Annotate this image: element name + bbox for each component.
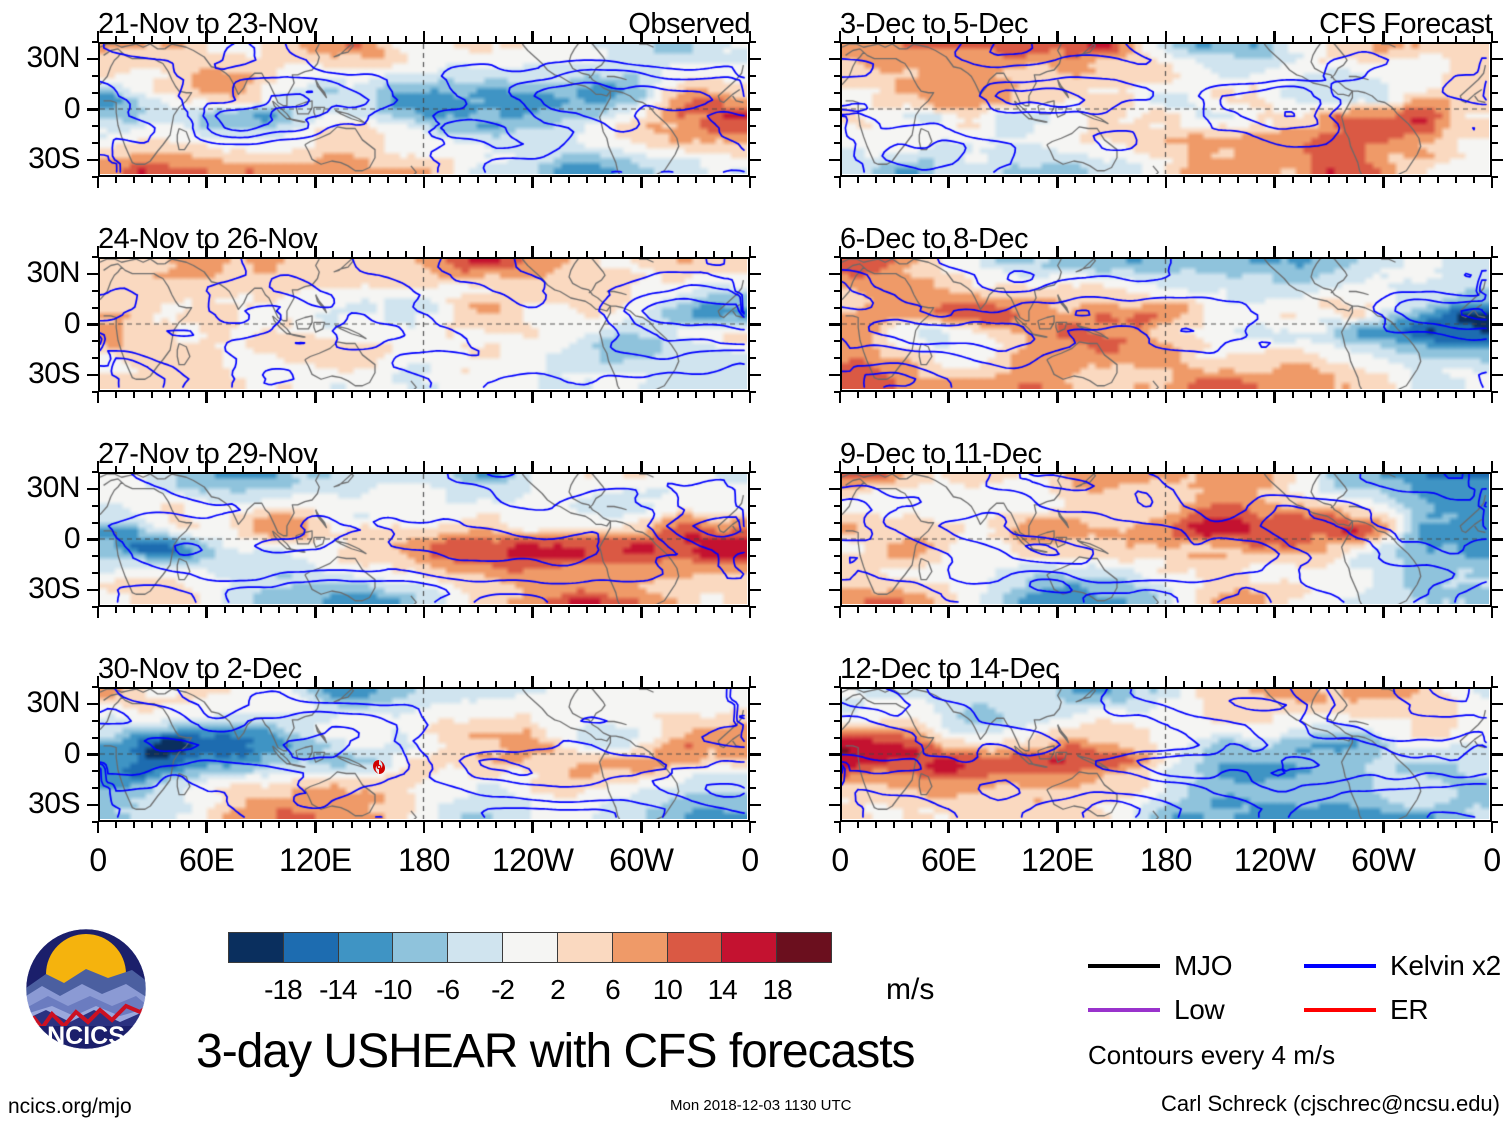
x-axis-tick	[911, 466, 913, 472]
x-axis-tick	[713, 392, 715, 398]
x-axis-tick	[1002, 177, 1004, 183]
x-axis-tick	[1147, 822, 1149, 828]
x-axis-tick	[188, 36, 190, 42]
x-axis-tick	[640, 177, 643, 188]
x-axis-tick	[1382, 246, 1385, 257]
x-axis-tick	[1056, 822, 1059, 833]
x-axis-tick	[97, 607, 100, 618]
x-axis-tick	[1455, 251, 1457, 257]
y-axis-tick	[834, 256, 840, 258]
x-axis-tick	[550, 681, 552, 687]
x-axis-tick	[477, 607, 479, 613]
x-axis-tick	[1382, 392, 1385, 403]
x-axis-tick	[695, 681, 697, 687]
x-axis-tick	[984, 177, 986, 183]
y-axis-tick	[750, 256, 756, 258]
y-axis-tick	[92, 471, 98, 473]
x-axis-tick	[115, 607, 117, 613]
figure-title: 3-day USHEAR with CFS forecasts	[196, 1028, 915, 1076]
x-axis-tick	[1002, 392, 1004, 398]
x-axis-tick	[1455, 36, 1457, 42]
x-axis-tick	[1400, 607, 1402, 613]
x-axis-tick	[677, 466, 679, 472]
x-axis-tick	[731, 392, 733, 398]
x-axis-tick	[658, 36, 660, 42]
x-axis-tick	[984, 822, 986, 828]
x-axis-tick	[351, 822, 353, 828]
x-axis-tick	[857, 607, 859, 613]
y-axis-label: 30S	[28, 144, 80, 174]
x-axis-tick	[658, 392, 660, 398]
y-axis-tick	[834, 505, 840, 507]
x-axis-tick	[1310, 36, 1312, 42]
x-axis-tick	[658, 822, 660, 828]
x-axis-tick	[857, 177, 859, 183]
x-axis-tick	[1419, 822, 1421, 828]
y-axis-tick	[834, 340, 840, 342]
x-axis-tick	[658, 466, 660, 472]
x-axis-tick	[97, 822, 100, 833]
y-axis-tick	[750, 142, 756, 144]
y-axis-tick	[92, 391, 98, 393]
y-axis-tick	[92, 290, 98, 292]
x-axis-tick	[1111, 607, 1113, 613]
x-axis-tick	[1219, 36, 1221, 42]
x-axis-tick	[1400, 681, 1402, 687]
x-axis-tick	[1419, 392, 1421, 398]
x-axis-tick	[459, 177, 461, 183]
colorbar-swatch	[503, 933, 558, 962]
x-axis-tick	[911, 607, 913, 613]
x-axis-tick	[1419, 607, 1421, 613]
x-axis-tick	[1328, 177, 1330, 183]
x-axis-tick	[260, 681, 262, 687]
x-axis-tick	[875, 681, 877, 687]
y-axis-tick	[834, 572, 840, 574]
ushear-shaded-field	[100, 44, 747, 174]
x-axis-tick	[1364, 466, 1366, 472]
x-axis-tick	[893, 681, 895, 687]
x-axis-tick	[1364, 36, 1366, 42]
y-axis-tick	[1492, 307, 1498, 309]
x-axis-label: 60E	[889, 844, 1009, 876]
y-axis-tick	[92, 505, 98, 507]
x-axis-tick	[314, 392, 317, 403]
x-axis-tick	[351, 251, 353, 257]
x-axis-tick	[260, 607, 262, 613]
x-axis-label: 0	[38, 844, 158, 876]
y-axis-tick	[1492, 522, 1498, 524]
x-axis-tick	[677, 822, 679, 828]
y-axis-tick	[750, 75, 756, 77]
x-axis-tick	[984, 392, 986, 398]
x-axis-tick	[278, 36, 280, 42]
y-axis-tick	[87, 108, 98, 111]
x-axis-tick	[1020, 681, 1022, 687]
y-axis-tick	[1492, 686, 1498, 688]
y-axis-tick	[92, 737, 98, 739]
y-axis-tick	[92, 720, 98, 722]
x-axis-tick	[459, 251, 461, 257]
y-axis-tick	[1492, 374, 1503, 377]
x-axis-tick	[875, 466, 877, 472]
x-axis-tick	[242, 607, 244, 613]
legend-entry-er: ER	[1304, 996, 1428, 1024]
y-axis-tick	[92, 572, 98, 574]
x-axis-tick	[1364, 607, 1366, 613]
x-axis-tick	[1400, 36, 1402, 42]
x-axis-tick	[1491, 177, 1494, 188]
x-axis-tick	[133, 392, 135, 398]
x-axis-tick	[1129, 392, 1131, 398]
x-axis-tick	[1292, 177, 1294, 183]
ushear-shaded-field	[842, 689, 1489, 819]
x-axis-tick	[1400, 822, 1402, 828]
x-axis-tick	[296, 822, 298, 828]
x-axis-tick	[947, 31, 950, 42]
y-axis-tick	[834, 391, 840, 393]
y-axis-tick	[829, 273, 840, 276]
x-axis-tick	[351, 681, 353, 687]
x-axis-label: 120W	[1215, 844, 1335, 876]
x-axis-tick	[1129, 681, 1131, 687]
x-axis-tick	[984, 251, 986, 257]
x-axis-tick	[1273, 177, 1276, 188]
x-axis-tick	[1382, 31, 1385, 42]
x-axis-tick	[188, 822, 190, 828]
x-axis-tick	[1310, 681, 1312, 687]
x-axis-tick	[351, 392, 353, 398]
x-axis-tick	[351, 36, 353, 42]
x-axis-tick	[1219, 822, 1221, 828]
x-axis-tick	[947, 392, 950, 403]
x-axis-tick	[568, 681, 570, 687]
y-axis-tick	[92, 555, 98, 557]
x-axis-tick	[296, 392, 298, 398]
x-axis-tick	[296, 607, 298, 613]
y-axis-tick	[1492, 737, 1498, 739]
x-axis-tick	[278, 392, 280, 398]
y-axis-label: 30S	[28, 359, 80, 389]
x-axis-tick	[224, 607, 226, 613]
x-axis-tick	[188, 466, 190, 472]
x-axis-tick	[1237, 251, 1239, 257]
y-axis-tick	[92, 176, 98, 178]
x-axis-tick	[205, 822, 208, 833]
x-axis-tick	[622, 251, 624, 257]
x-axis-tick	[1292, 466, 1294, 472]
x-axis-tick	[531, 822, 534, 833]
y-axis-tick	[750, 159, 761, 162]
x-axis-tick	[911, 681, 913, 687]
x-axis-tick	[1310, 177, 1312, 183]
panel-title: 3-Dec to 5-Dec	[840, 10, 1028, 39]
x-axis-tick	[586, 36, 588, 42]
x-axis-tick	[1020, 177, 1022, 183]
x-axis-tick	[568, 607, 570, 613]
x-axis-tick	[1473, 466, 1475, 472]
x-axis-tick	[188, 681, 190, 687]
x-axis-tick	[1002, 36, 1004, 42]
legend-label: Kelvin x2	[1390, 952, 1501, 980]
map-plot-area	[840, 472, 1492, 607]
x-axis-tick	[550, 251, 552, 257]
x-axis-tick	[857, 822, 859, 828]
y-axis-tick	[834, 357, 840, 359]
x-axis-tick	[1093, 36, 1095, 42]
x-axis-tick	[947, 607, 950, 618]
x-axis-tick	[351, 177, 353, 183]
x-axis-tick	[1346, 251, 1348, 257]
colorbar-units-label: m/s	[886, 975, 934, 1005]
x-axis-tick	[966, 607, 968, 613]
x-axis-tick	[1183, 392, 1185, 398]
x-axis-tick	[1455, 681, 1457, 687]
x-axis-tick	[1074, 822, 1076, 828]
tropical-cyclone-symbol	[371, 757, 387, 777]
x-axis-tick	[296, 466, 298, 472]
x-axis-tick	[1129, 607, 1131, 613]
y-axis-tick	[92, 686, 98, 688]
x-axis-tick	[1056, 177, 1059, 188]
x-axis-tick	[911, 177, 913, 183]
y-axis-tick	[750, 555, 756, 557]
y-axis-tick	[92, 125, 98, 127]
x-axis-tick	[242, 392, 244, 398]
y-axis-tick	[92, 41, 98, 43]
y-axis-tick	[750, 374, 761, 377]
x-axis-tick	[1056, 31, 1059, 42]
x-axis-tick	[495, 36, 497, 42]
y-axis-tick	[1492, 505, 1498, 507]
x-axis-tick	[695, 36, 697, 42]
x-axis-tick	[1038, 392, 1040, 398]
colorbar-swatch	[613, 933, 668, 962]
x-axis-tick	[586, 392, 588, 398]
x-axis-tick	[658, 177, 660, 183]
x-axis-tick	[1111, 392, 1113, 398]
x-axis-tick	[1237, 822, 1239, 828]
panel-fcst-3: 9-Dec to 11-Dec	[840, 440, 1492, 607]
y-axis-tick	[829, 538, 840, 541]
x-axis-tick	[1201, 177, 1203, 183]
x-axis-tick	[640, 392, 643, 403]
y-axis-tick	[1492, 753, 1503, 756]
x-axis-tick	[1310, 822, 1312, 828]
x-axis-tick	[1093, 251, 1095, 257]
y-axis-tick	[750, 307, 756, 309]
contour-interval-note: Contours every 4 m/s	[1088, 1042, 1335, 1068]
x-axis-tick	[369, 681, 371, 687]
x-axis-tick	[1364, 251, 1366, 257]
y-axis-tick	[1492, 488, 1503, 491]
y-axis-tick	[750, 340, 756, 342]
x-axis-tick	[260, 822, 262, 828]
x-axis-tick	[205, 461, 208, 472]
x-axis-tick	[242, 177, 244, 183]
x-axis-tick	[387, 681, 389, 687]
x-axis-tick	[495, 822, 497, 828]
x-axis-tick	[1111, 681, 1113, 687]
x-axis-tick	[260, 177, 262, 183]
x-axis-tick	[550, 392, 552, 398]
x-axis-tick	[1020, 607, 1022, 613]
x-axis-tick	[405, 392, 407, 398]
x-axis-tick	[749, 392, 752, 403]
colorbar-swatch	[393, 933, 448, 962]
x-axis-tick	[947, 461, 950, 472]
x-axis-tick	[857, 681, 859, 687]
x-axis-tick	[1419, 36, 1421, 42]
x-axis-tick	[369, 607, 371, 613]
y-axis-tick	[750, 538, 761, 541]
x-axis-tick	[296, 177, 298, 183]
x-axis-tick	[205, 607, 208, 618]
y-axis-tick	[750, 804, 761, 807]
x-axis-tick	[1455, 392, 1457, 398]
x-axis-tick	[314, 246, 317, 257]
x-axis-tick	[1020, 392, 1022, 398]
x-axis-tick	[332, 177, 334, 183]
y-axis-tick	[1492, 92, 1498, 94]
x-axis-tick	[514, 392, 516, 398]
x-axis-tick	[1346, 466, 1348, 472]
x-axis-tick	[1437, 392, 1439, 398]
x-axis-tick	[477, 466, 479, 472]
y-axis-tick	[750, 176, 756, 178]
x-axis-tick	[1183, 681, 1185, 687]
x-axis-tick	[1473, 607, 1475, 613]
x-axis-label: 60W	[1323, 844, 1443, 876]
legend-entry-mjo: MJO	[1088, 952, 1232, 980]
y-axis-label: 0	[64, 739, 80, 769]
panel-fcst-4: 12-Dec to 14-Dec060E120E180120W60W0	[840, 655, 1492, 822]
x-axis-tick	[1093, 177, 1095, 183]
x-axis-tick	[622, 392, 624, 398]
y-axis-label: 0	[64, 94, 80, 124]
x-axis-tick	[1273, 392, 1276, 403]
x-axis-tick	[115, 681, 117, 687]
x-axis-tick	[875, 607, 877, 613]
x-axis-tick	[151, 466, 153, 472]
x-axis-tick	[640, 246, 643, 257]
x-axis-tick	[1165, 676, 1168, 687]
x-axis-tick	[947, 177, 950, 188]
x-axis-tick	[713, 681, 715, 687]
x-axis-tick	[1074, 36, 1076, 42]
y-axis-tick	[834, 787, 840, 789]
x-axis-tick	[1437, 681, 1439, 687]
x-axis-tick	[514, 607, 516, 613]
x-axis-tick	[514, 466, 516, 472]
y-axis-tick	[87, 804, 98, 807]
x-axis-tick	[133, 607, 135, 613]
x-axis-tick	[1328, 607, 1330, 613]
x-axis-tick	[441, 251, 443, 257]
y-axis-tick	[1492, 471, 1498, 473]
x-axis-tick	[151, 177, 153, 183]
x-axis-tick	[930, 392, 932, 398]
x-axis-tick	[1437, 177, 1439, 183]
x-axis-tick	[423, 246, 426, 257]
x-axis-tick	[731, 681, 733, 687]
y-axis-tick	[750, 41, 756, 43]
legend-line-swatch	[1088, 1008, 1160, 1012]
x-axis-tick	[1473, 251, 1475, 257]
timestamp-label: Mon 2018-12-03 1130 UTC	[670, 1098, 852, 1113]
x-axis-tick	[930, 607, 932, 613]
x-axis-tick	[1038, 822, 1040, 828]
x-axis-tick	[151, 822, 153, 828]
x-axis-tick	[1093, 466, 1095, 472]
y-axis-tick	[829, 488, 840, 491]
x-axis-tick	[1419, 681, 1421, 687]
x-axis-tick	[151, 251, 153, 257]
x-axis-tick	[369, 36, 371, 42]
x-axis-tick	[1129, 822, 1131, 828]
x-axis-tick	[695, 177, 697, 183]
y-axis-tick	[834, 606, 840, 608]
x-axis-tick	[604, 681, 606, 687]
y-axis-tick	[1492, 176, 1498, 178]
ushear-shaded-field	[842, 259, 1489, 389]
x-axis-tick	[278, 466, 280, 472]
x-axis-tick	[1111, 177, 1113, 183]
x-axis-tick	[1201, 822, 1203, 828]
x-axis-tick	[1165, 822, 1168, 833]
x-axis-tick	[550, 466, 552, 472]
x-axis-tick	[1129, 466, 1131, 472]
x-axis-tick	[966, 36, 968, 42]
x-axis-tick	[1219, 681, 1221, 687]
x-axis-tick	[332, 822, 334, 828]
x-axis-tick	[314, 31, 317, 42]
x-axis-tick	[1147, 36, 1149, 42]
y-axis-tick	[87, 58, 98, 61]
legend-line-swatch	[1304, 1008, 1376, 1012]
x-axis-tick	[1419, 251, 1421, 257]
x-axis-tick	[550, 36, 552, 42]
column-header-observed: Observed	[628, 10, 750, 39]
x-axis-tick	[1455, 607, 1457, 613]
x-axis-tick	[1129, 36, 1131, 42]
x-axis-tick	[677, 607, 679, 613]
x-axis-tick	[169, 36, 171, 42]
x-axis-tick	[1273, 31, 1276, 42]
x-axis-tick	[423, 676, 426, 687]
x-axis-tick	[1273, 461, 1276, 472]
x-axis-tick	[1346, 392, 1348, 398]
x-axis-tick	[441, 822, 443, 828]
x-axis-tick	[658, 607, 660, 613]
x-axis-tick	[568, 392, 570, 398]
x-axis-label: 0	[1432, 844, 1510, 876]
y-axis-tick	[834, 720, 840, 722]
x-axis-tick	[568, 822, 570, 828]
x-axis-tick	[495, 392, 497, 398]
x-axis-tick	[1020, 466, 1022, 472]
x-axis-tick	[677, 392, 679, 398]
x-axis-tick	[188, 251, 190, 257]
x-axis-tick	[893, 251, 895, 257]
x-axis-tick	[477, 392, 479, 398]
x-axis-tick	[423, 822, 426, 833]
x-axis-tick	[1364, 177, 1366, 183]
x-axis-tick	[1310, 466, 1312, 472]
x-axis-tick	[1237, 392, 1239, 398]
panel-obs-4: 30-Nov to 2-Dec30N030S060E120E180120W60W…	[98, 655, 750, 822]
x-axis-tick	[875, 822, 877, 828]
